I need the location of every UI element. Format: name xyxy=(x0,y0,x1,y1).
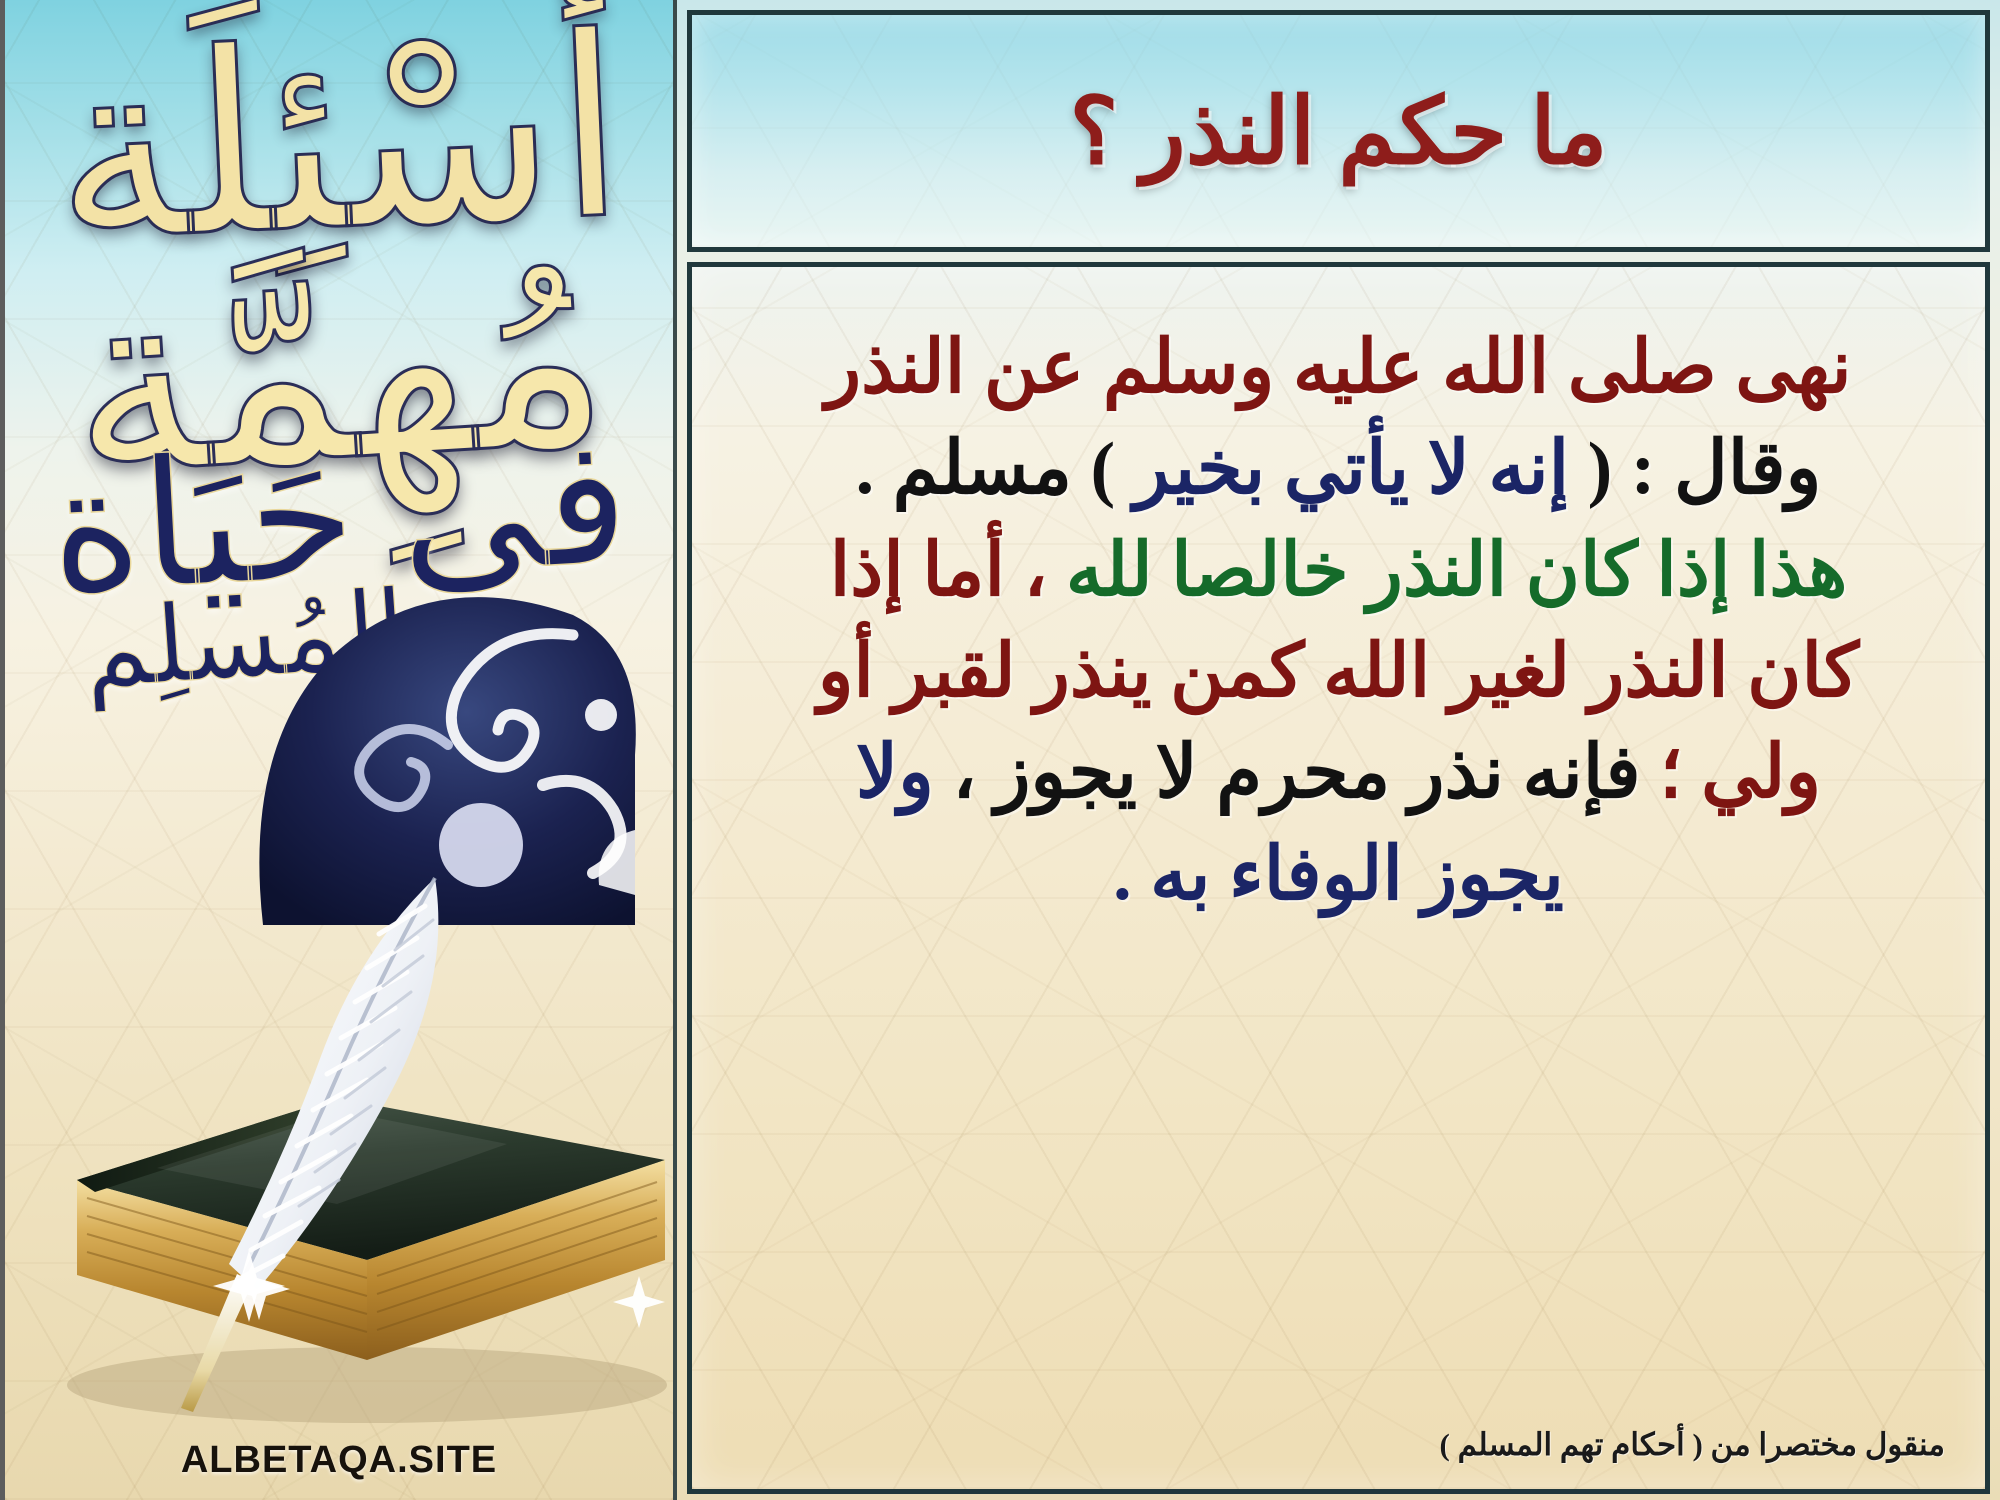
text-segment: يجوز الوفاء به . xyxy=(1113,834,1564,916)
question-title: ما حكم النذر ؟ xyxy=(1069,78,1607,185)
answer-line: كان النذر لغير الله كمن ينذر لقبر أو xyxy=(738,629,1939,716)
text-segment: ) مسلم . xyxy=(856,428,1134,510)
text-segment: إنه لا يأتي بخير xyxy=(1134,428,1569,510)
text-segment: ولي ؛ xyxy=(1641,732,1821,814)
answer-line: يجوز الوفاء به . xyxy=(738,832,1939,919)
answer-line: هذا إذا كان النذر خالصا لله ، أما إذا xyxy=(738,528,1939,615)
content-column: ما حكم النذر ؟ نهى صلى الله عليه وسلم عن… xyxy=(673,0,2000,1500)
question-banner: ما حكم النذر ؟ xyxy=(687,10,1990,252)
text-segment: وقال : ( xyxy=(1569,428,1821,510)
site-watermark: ALBETAQA.SITE xyxy=(181,1439,497,1482)
text-segment: هذا إذا كان النذر خالصا لله xyxy=(1066,530,1847,612)
quill-feather-illustration xyxy=(133,860,463,1420)
text-segment: ولا xyxy=(856,732,934,814)
answer-line: ولي ؛ فإنه نذر محرم لا يجوز ، ولا xyxy=(738,730,1939,817)
answer-line: نهى صلى الله عليه وسلم عن النذر xyxy=(738,325,1939,412)
islamic-question-card: ما حكم النذر ؟ نهى صلى الله عليه وسلم عن… xyxy=(0,0,2000,1500)
decorative-panel: أَسْئِلَة مُهِمَّة في حَيَاة المُسلِم xyxy=(0,0,673,1500)
text-segment: ، أما إذا xyxy=(830,530,1066,612)
text-segment: كان النذر لغير الله كمن ينذر لقبر أو xyxy=(818,631,1860,713)
text-segment: نهى صلى الله عليه وسلم عن النذر xyxy=(825,327,1851,409)
answer-text-block: نهى صلى الله عليه وسلم عن النذر وقال : (… xyxy=(692,267,1985,1427)
answer-panel: نهى صلى الله عليه وسلم عن النذر وقال : (… xyxy=(687,262,1990,1494)
answer-line: وقال : ( إنه لا يأتي بخير ) مسلم . xyxy=(738,426,1939,513)
source-note: منقول مختصرا من ( أحكام تهم المسلم ) xyxy=(692,1427,1985,1489)
text-segment: فإنه نذر محرم لا يجوز ، xyxy=(934,732,1641,814)
